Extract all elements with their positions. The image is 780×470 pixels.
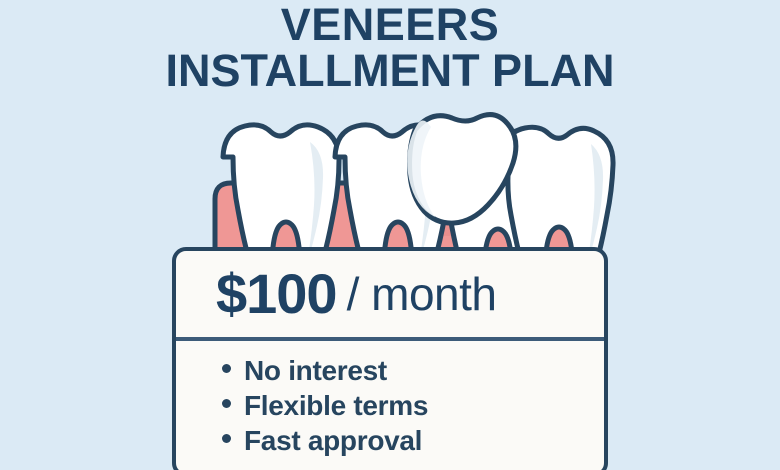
- list-item: Fast approval: [222, 423, 604, 458]
- page-title: VENEERS INSTALLMENT PLAN: [0, 2, 780, 94]
- bullet-dot-icon: [222, 434, 231, 443]
- price-amount: $100: [216, 266, 337, 322]
- list-item: No interest: [222, 353, 604, 388]
- page-title-line-1: VENEERS: [0, 2, 780, 48]
- benefit-label: No interest: [244, 353, 387, 388]
- benefit-label: Flexible terms: [244, 388, 428, 423]
- benefits-list: No interest Flexible terms Fast approval: [176, 341, 604, 458]
- benefit-label: Fast approval: [244, 423, 422, 458]
- bullet-dot-icon: [222, 364, 231, 373]
- installment-plan-card: $100 / month No interest Flexible terms …: [172, 247, 608, 470]
- list-item: Flexible terms: [222, 388, 604, 423]
- veneers-installment-plan-poster: VENEERS INSTALLMENT PLAN: [0, 0, 780, 470]
- page-title-line-2: INSTALLMENT PLAN: [0, 48, 780, 94]
- price-period: / month: [347, 266, 497, 322]
- price-row: $100 / month: [176, 251, 604, 341]
- bullet-dot-icon: [222, 399, 231, 408]
